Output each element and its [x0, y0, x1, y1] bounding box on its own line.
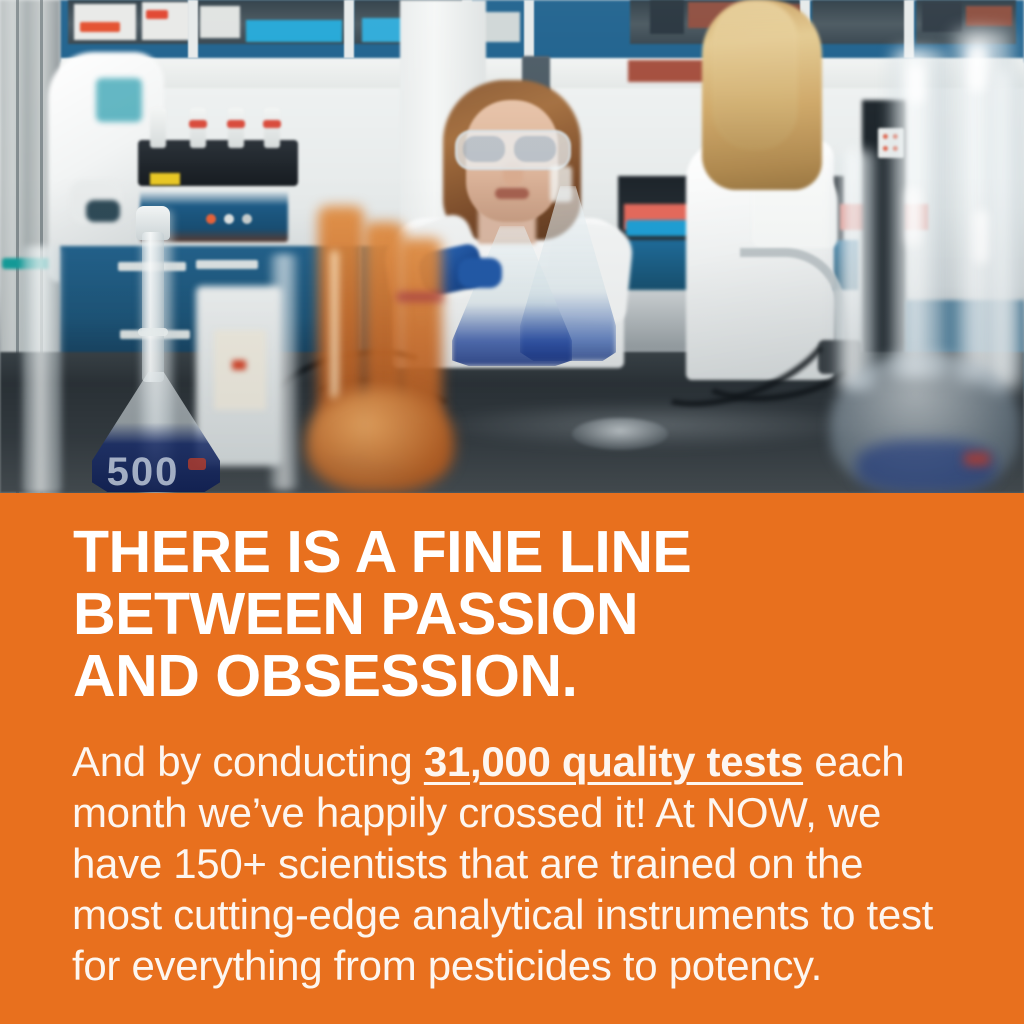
sample-tube-cap: [263, 120, 281, 128]
instrument-knob: [242, 214, 252, 224]
amber-flask-highlight: [330, 250, 339, 400]
foreground-flask-right-liquid: [856, 440, 996, 493]
glass-cylinder: [986, 70, 1024, 390]
poster-canvas: 500 THERE IS A FINE LINE BETWEEN PASSION…: [0, 0, 1024, 1024]
goggle-lens-right: [514, 136, 556, 162]
watch-glass-dish: [572, 418, 668, 450]
shelf-box: [200, 6, 240, 38]
glass-highlight: [908, 64, 924, 104]
glass-cylinder: [836, 150, 876, 390]
glass-column: [22, 246, 62, 493]
right-scientist-hair-highlight: [712, 0, 798, 150]
sample-tube: [228, 108, 244, 148]
glass-highlight: [906, 188, 920, 246]
shelf-dark-box: [650, 0, 684, 34]
headline: THERE IS A FINE LINE BETWEEN PASSION AND…: [73, 521, 973, 707]
instrument-indicator-light: [206, 214, 216, 224]
sample-tube: [264, 108, 280, 148]
shelf-blue-box: [246, 20, 342, 42]
teal-object: [96, 78, 142, 122]
instrument-logo-mark: [626, 220, 690, 236]
instrument-yellow-label: [150, 173, 180, 185]
flask-graduation-ring: [138, 328, 168, 336]
shelf-red-label: [146, 10, 168, 19]
shelf-box: [142, 2, 190, 40]
shelf-red-label: [80, 22, 120, 32]
body-copy: And by conducting 31,000 quality tests e…: [72, 736, 954, 991]
cabinet-mullion: [188, 0, 198, 58]
amber-flask-ring: [396, 292, 444, 302]
cabinet-mullion: [524, 0, 534, 58]
sample-tube: [150, 108, 166, 148]
orange-text-panel: THERE IS A FINE LINE BETWEEN PASSION AND…: [0, 493, 1024, 1024]
flask-red-mark: [188, 458, 206, 470]
shelf-dark-box: [922, 2, 962, 32]
lab-scene: 500: [0, 0, 1024, 493]
lab-photo: 500: [0, 0, 1024, 493]
sample-tube: [190, 108, 206, 148]
volumetric-flask-500ml: 500: [92, 232, 220, 492]
foreground-flask-right-label: [964, 452, 990, 466]
outlet-indicator: [883, 134, 888, 139]
cabinet-glass-panel: [812, 0, 907, 44]
outlet-indicator: [883, 146, 888, 151]
blue-nitrile-glove-fingers: [458, 258, 502, 288]
scientist-left-hand: [86, 200, 120, 222]
flask-volume-label: 500: [98, 450, 188, 493]
amber-flask-bulb: [306, 388, 454, 493]
center-scientist-mouth: [495, 188, 529, 199]
sample-tube-cap: [227, 120, 245, 128]
glass-highlight: [974, 210, 988, 264]
quality-tests-emphasis: 31,000 quality tests: [424, 738, 803, 785]
reagent-hazard-mark: [232, 360, 246, 370]
glass-highlight: [968, 46, 986, 92]
sample-tube-cap: [189, 120, 207, 128]
cabinet-mullion: [344, 0, 354, 58]
goggle-lens-left: [463, 136, 505, 162]
instrument-knob: [224, 214, 234, 224]
shelf-brown-box: [966, 6, 1012, 26]
body-copy-lead: And by conducting: [72, 738, 424, 785]
reagent-bottle-label: [214, 330, 266, 410]
flask-neck: [142, 232, 164, 382]
